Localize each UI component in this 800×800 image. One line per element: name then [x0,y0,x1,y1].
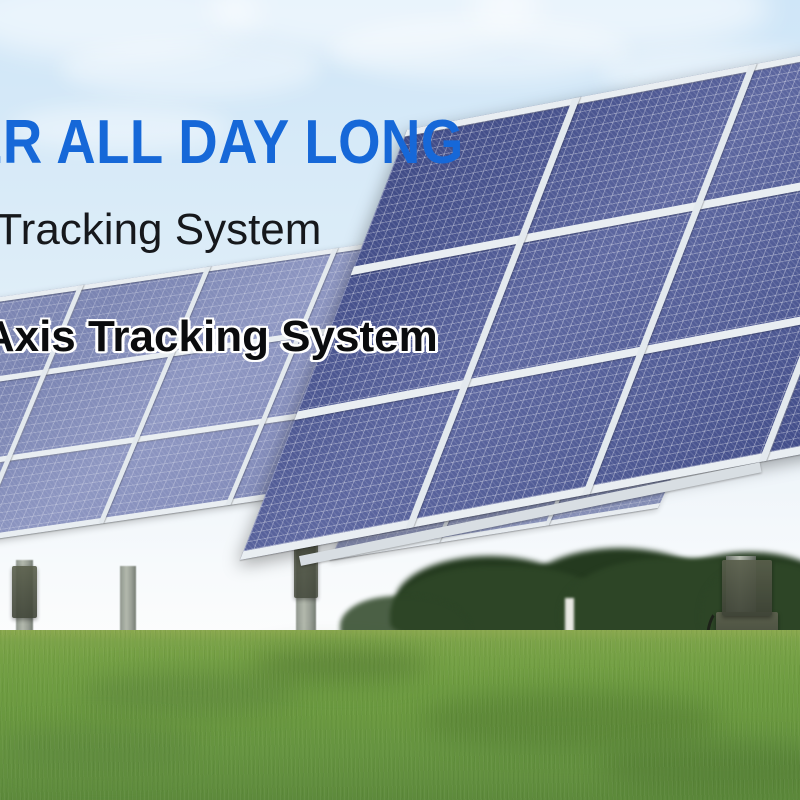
cloud [330,18,630,82]
field-post [565,598,574,634]
subline: s Tracking System [0,208,321,252]
cloud [60,40,320,98]
tracker-drive-box [12,566,37,618]
tagline: l Axis Tracking System [0,315,438,359]
grass-texture [0,630,800,800]
headline: ER ALL DAY LONG [0,112,464,174]
hero-banner: ER ALL DAY LONG s Tracking System l Axis… [0,0,800,800]
tracker-drive-housing-upper [722,560,772,616]
